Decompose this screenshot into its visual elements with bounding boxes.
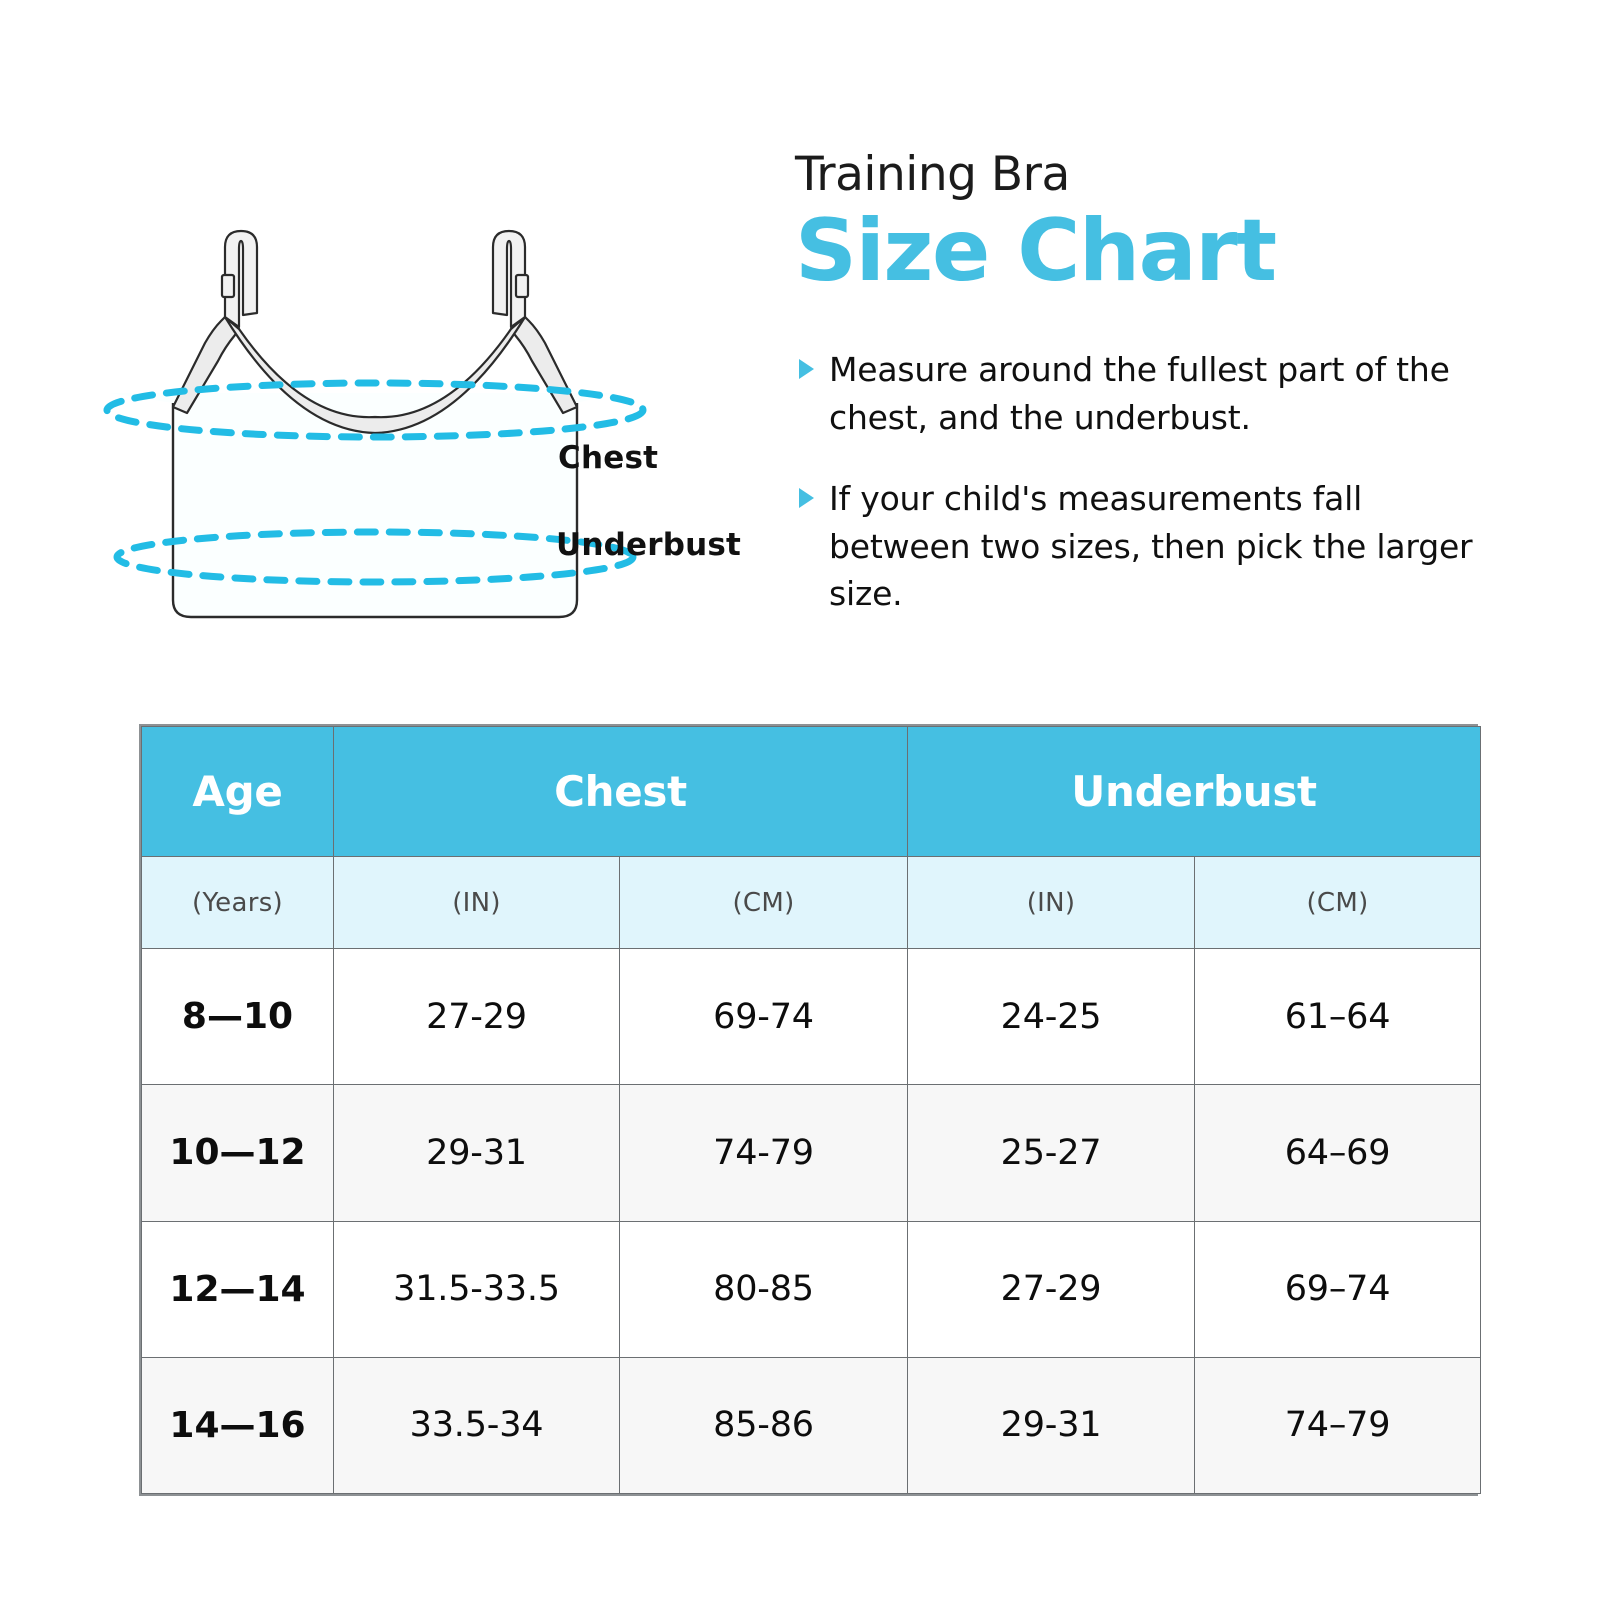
top-section: Chest Underbust Training Bra Size Chart … bbox=[0, 0, 1600, 700]
measuring-notes: Measure around the fullest part of the c… bbox=[795, 346, 1475, 618]
cell-chest-cm: 85-86 bbox=[620, 1357, 908, 1493]
cell-underbust-in: 29-31 bbox=[908, 1357, 1195, 1493]
cell-chest-in: 29-31 bbox=[334, 1085, 620, 1221]
note-item: If your child's measurements fall betwee… bbox=[795, 475, 1475, 618]
table-unit-header-row: (Years) (IN) (CM) (IN) (CM) bbox=[142, 857, 1481, 949]
size-table-container: Age Chest Underbust (Years) (IN) (CM) (I… bbox=[139, 724, 1478, 1496]
cell-chest-in: 27-29 bbox=[334, 949, 620, 1085]
triangle-bullet-icon bbox=[799, 488, 814, 508]
unit-underbust-in: (IN) bbox=[908, 857, 1195, 949]
cell-underbust-cm: 69–74 bbox=[1195, 1221, 1481, 1357]
underbust-label: Underbust bbox=[556, 527, 741, 563]
bra-illustration-svg bbox=[55, 225, 775, 645]
cell-chest-cm: 69-74 bbox=[620, 949, 908, 1085]
product-name: Training Bra bbox=[795, 150, 1485, 199]
note-text: Measure around the fullest part of the c… bbox=[829, 350, 1450, 437]
page-title: Size Chart bbox=[795, 205, 1485, 298]
cell-age: 12—14 bbox=[142, 1221, 334, 1357]
chest-label: Chest bbox=[558, 440, 658, 476]
cell-age: 8—10 bbox=[142, 949, 334, 1085]
size-table: Age Chest Underbust (Years) (IN) (CM) (I… bbox=[141, 726, 1481, 1494]
strap-slider-left-icon bbox=[222, 275, 234, 297]
cell-chest-cm: 80-85 bbox=[620, 1221, 908, 1357]
cell-underbust-cm: 64–69 bbox=[1195, 1085, 1481, 1221]
heading-block: Training Bra Size Chart Measure around t… bbox=[795, 150, 1485, 618]
cell-underbust-in: 24-25 bbox=[908, 949, 1195, 1085]
bra-illustration bbox=[55, 225, 775, 645]
cell-underbust-cm: 74–79 bbox=[1195, 1357, 1481, 1493]
table-row: 14—16 33.5-34 85-86 29-31 74–79 bbox=[142, 1357, 1481, 1493]
cell-underbust-cm: 61–64 bbox=[1195, 949, 1481, 1085]
table-group-header-row: Age Chest Underbust bbox=[142, 727, 1481, 857]
header-age: Age bbox=[142, 727, 334, 857]
unit-age: (Years) bbox=[142, 857, 334, 949]
header-chest: Chest bbox=[334, 727, 908, 857]
cell-age: 10—12 bbox=[142, 1085, 334, 1221]
triangle-bullet-icon bbox=[799, 359, 814, 379]
table-row: 12—14 31.5-33.5 80-85 27-29 69–74 bbox=[142, 1221, 1481, 1357]
unit-chest-in: (IN) bbox=[334, 857, 620, 949]
cell-underbust-in: 25-27 bbox=[908, 1085, 1195, 1221]
size-chart-page: Chest Underbust Training Bra Size Chart … bbox=[0, 0, 1600, 1600]
table-row: 10—12 29-31 74-79 25-27 64–69 bbox=[142, 1085, 1481, 1221]
note-item: Measure around the fullest part of the c… bbox=[795, 346, 1475, 441]
strap-slider-right-icon bbox=[516, 275, 528, 297]
unit-underbust-cm: (CM) bbox=[1195, 857, 1481, 949]
cell-chest-in: 33.5-34 bbox=[334, 1357, 620, 1493]
cell-age: 14—16 bbox=[142, 1357, 334, 1493]
cell-chest-cm: 74-79 bbox=[620, 1085, 908, 1221]
table-row: 8—10 27-29 69-74 24-25 61–64 bbox=[142, 949, 1481, 1085]
note-text: If your child's measurements fall betwee… bbox=[829, 479, 1472, 613]
cell-underbust-in: 27-29 bbox=[908, 1221, 1195, 1357]
unit-chest-cm: (CM) bbox=[620, 857, 908, 949]
cell-chest-in: 31.5-33.5 bbox=[334, 1221, 620, 1357]
header-underbust: Underbust bbox=[908, 727, 1481, 857]
